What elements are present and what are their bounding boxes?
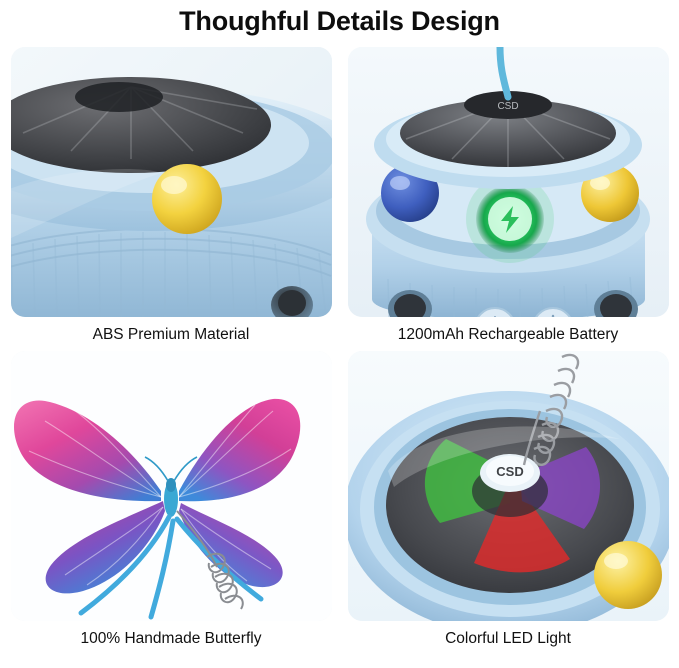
panel-rechargeable-battery: CSD 1200mAh Rechargeable Battery <box>348 47 669 347</box>
photo-abs-premium-material <box>11 47 332 317</box>
panel-grid: ABS Premium Material <box>8 47 671 650</box>
panel-abs-premium-material: ABS Premium Material <box>11 47 332 347</box>
scene-battery: CSD <box>348 47 669 317</box>
scene-butterfly <box>11 351 332 621</box>
caption-rechargeable-battery: 1200mAh Rechargeable Battery <box>398 326 619 345</box>
scene-abs-material <box>11 47 332 317</box>
scene-led-light: CSD <box>348 351 669 621</box>
page-title: Thoughful Details Design <box>8 6 671 37</box>
photo-colorful-led-light: CSD <box>348 351 669 621</box>
caption-colorful-led-light: Colorful LED Light <box>445 630 571 649</box>
brand-mark-hub: CSD <box>496 464 523 479</box>
caption-handmade-butterfly: 100% Handmade Butterfly <box>81 630 262 649</box>
infographic-page: Thoughful Details Design <box>0 6 679 668</box>
photo-rechargeable-battery: CSD <box>348 47 669 317</box>
photo-handmade-butterfly <box>11 351 332 621</box>
brand-mark-top: CSD <box>497 101 518 112</box>
caption-abs-premium-material: ABS Premium Material <box>93 326 250 345</box>
panel-handmade-butterfly: 100% Handmade Butterfly <box>11 351 332 651</box>
panel-colorful-led-light: CSD <box>348 351 669 651</box>
